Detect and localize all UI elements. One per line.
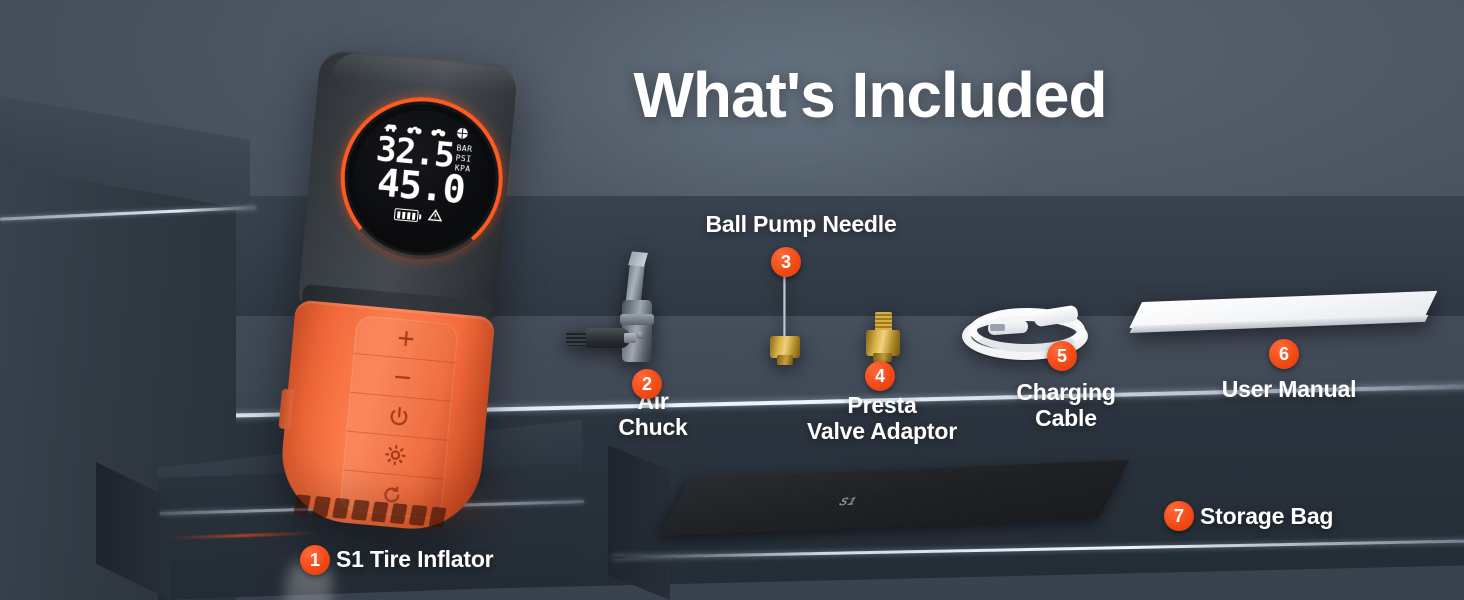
chuck-collar [620, 314, 654, 325]
display-status-row [393, 205, 442, 227]
target-reading: 45.0 [376, 164, 467, 210]
sun-icon [384, 443, 408, 467]
chuck-connector-stub [624, 333, 636, 343]
callout-label-7: Storage Bag [1200, 503, 1333, 529]
needle-foot [777, 355, 793, 365]
foreground-table-side [608, 445, 670, 600]
ball-icon [454, 126, 470, 140]
s1-tire-inflator-product: 32.5 BAR PSI KPA 45.0 [272, 48, 530, 536]
chuck-barrel [582, 328, 630, 348]
callout-badge-1[interactable]: 1 [300, 545, 330, 575]
warning-triangle-icon [427, 208, 443, 227]
chuck-pivot [636, 330, 645, 339]
battery-full-icon [394, 208, 419, 222]
plus-icon [394, 327, 418, 351]
air-chuck-icon [566, 252, 678, 370]
inflator-display-housing: 32.5 BAR PSI KPA 45.0 [341, 98, 502, 259]
callout-label-5: Charging Cable [1016, 379, 1115, 431]
callout-badge-5[interactable]: 5 [1047, 341, 1077, 371]
callout-label-4: Presta Valve Adaptor [807, 392, 957, 444]
callout-badge-3[interactable]: 3 [771, 247, 801, 277]
callout-label-6: User Manual [1222, 376, 1357, 402]
user-manual-icon [1142, 302, 1432, 344]
inflator-head: 32.5 BAR PSI KPA 45.0 [298, 49, 519, 324]
callout-badge-4[interactable]: 4 [865, 361, 895, 391]
power-icon [387, 404, 411, 428]
presta-threaded-top [875, 312, 892, 332]
callout-badge-6[interactable]: 6 [1269, 339, 1299, 369]
page-title: What's Included [610, 62, 1130, 129]
minus-icon [391, 365, 415, 389]
callout-badge-2[interactable]: 2 [632, 369, 662, 399]
callout-label-3: Ball Pump Needle [705, 211, 896, 237]
cable-connector-tip [990, 324, 1005, 331]
whats-included-infographic: What's Included [0, 0, 1464, 600]
callout-label-1: S1 Tire Inflator [336, 546, 493, 572]
storage-bag-icon: S1 [690, 478, 1160, 550]
ball-needle-icon [766, 262, 806, 372]
callout-badge-7[interactable]: 7 [1164, 501, 1194, 531]
chuck-threaded-end [566, 331, 586, 346]
chuck-lever-tip [628, 251, 648, 266]
